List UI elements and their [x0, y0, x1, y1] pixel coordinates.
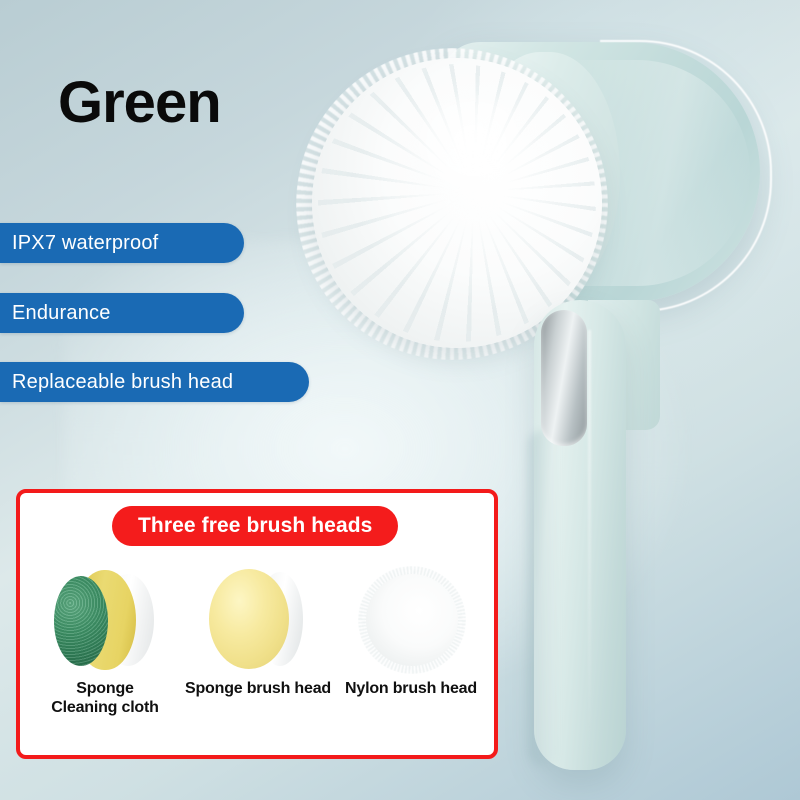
page-title: Green [58, 74, 221, 132]
feature-badge-label: Replaceable brush head [12, 371, 233, 394]
scrubber-release-button[interactable] [541, 310, 587, 446]
product-advertisement-image: Green IPX7 waterproof Endurance Replacea… [0, 0, 800, 800]
sponge-brush-head-icon [199, 566, 317, 672]
accessory-nylon-core [366, 574, 458, 666]
feature-badge-replaceable-brush-head: Replaceable brush head [0, 362, 309, 402]
sponge-cleaning-cloth-icon [46, 566, 164, 672]
scrubber-handle-seam [588, 330, 591, 750]
scrubber-body-rim-highlight [600, 40, 772, 312]
nylon-brush-head-icon [352, 566, 470, 672]
feature-badge-waterproof: IPX7 waterproof [0, 223, 244, 263]
accessory-item-sponge-cleaning-cloth: Sponge Cleaning cloth [30, 566, 180, 718]
feature-badge-label: Endurance [12, 302, 111, 325]
scrubber-handle-shadow [528, 430, 558, 766]
accessory-label: Sponge Cleaning cloth [51, 680, 158, 718]
feature-badge-endurance: Endurance [0, 293, 244, 333]
accessory-label: Nylon brush head [345, 680, 477, 699]
scrubber-brush-highlight [398, 96, 548, 216]
accessory-green-scrub-pad [54, 576, 108, 666]
scrub-pad-texture [54, 576, 108, 666]
accessory-item-sponge-brush-head: Sponge brush head [183, 566, 333, 699]
accessories-panel-title-pill: Three free brush heads [112, 506, 398, 546]
accessory-yellow-sponge-disc [209, 569, 289, 669]
feature-badge-label: IPX7 waterproof [12, 232, 158, 255]
accessories-list: Sponge Cleaning cloth Sponge brush head … [30, 566, 486, 746]
accessories-panel-title: Three free brush heads [138, 514, 372, 538]
accessory-label: Sponge brush head [185, 680, 331, 699]
accessory-item-nylon-brush-head: Nylon brush head [336, 566, 486, 699]
